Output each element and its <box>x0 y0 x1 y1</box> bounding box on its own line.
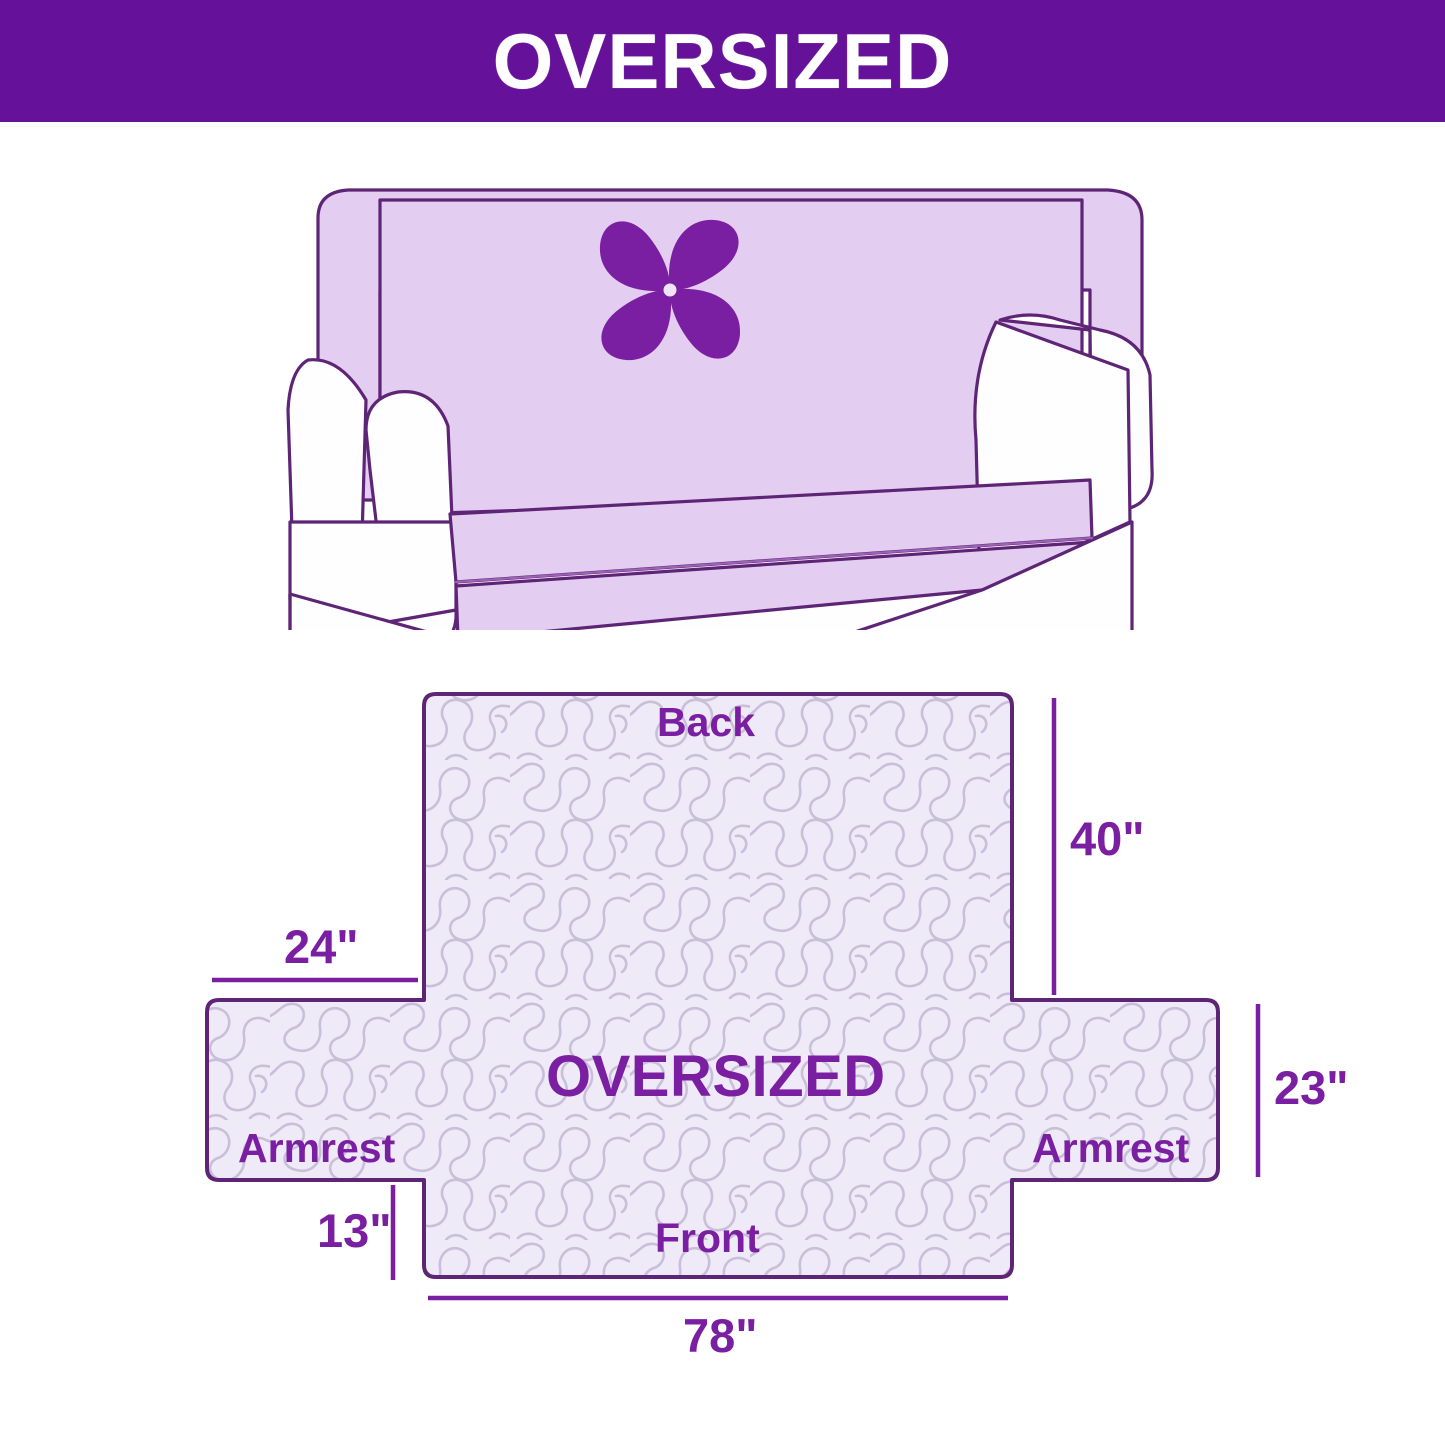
label-dimension-13: 13" <box>317 1207 392 1254</box>
label-armrest-left: Armrest <box>238 1128 395 1169</box>
label-back: Back <box>657 702 755 743</box>
label-dimension-78: 78" <box>683 1312 758 1359</box>
label-center-oversized: OVERSIZED <box>546 1048 886 1106</box>
header-banner: OVERSIZED <box>0 0 1445 122</box>
label-dimension-23: 23" <box>1274 1064 1349 1111</box>
page-title: OVERSIZED <box>493 22 953 100</box>
label-dimension-40: 40" <box>1070 815 1145 862</box>
sofa-illustration: .ln { fill:none; stroke:#5E2475; stroke-… <box>270 170 1200 630</box>
label-front: Front <box>655 1218 760 1259</box>
label-dimension-24: 24" <box>284 923 359 970</box>
cover-shape <box>207 694 1218 1277</box>
dimension-diagram: .cover { fill: url(#stipple); stroke: #5… <box>150 640 1350 1380</box>
label-armrest-right: Armrest <box>1032 1128 1189 1169</box>
